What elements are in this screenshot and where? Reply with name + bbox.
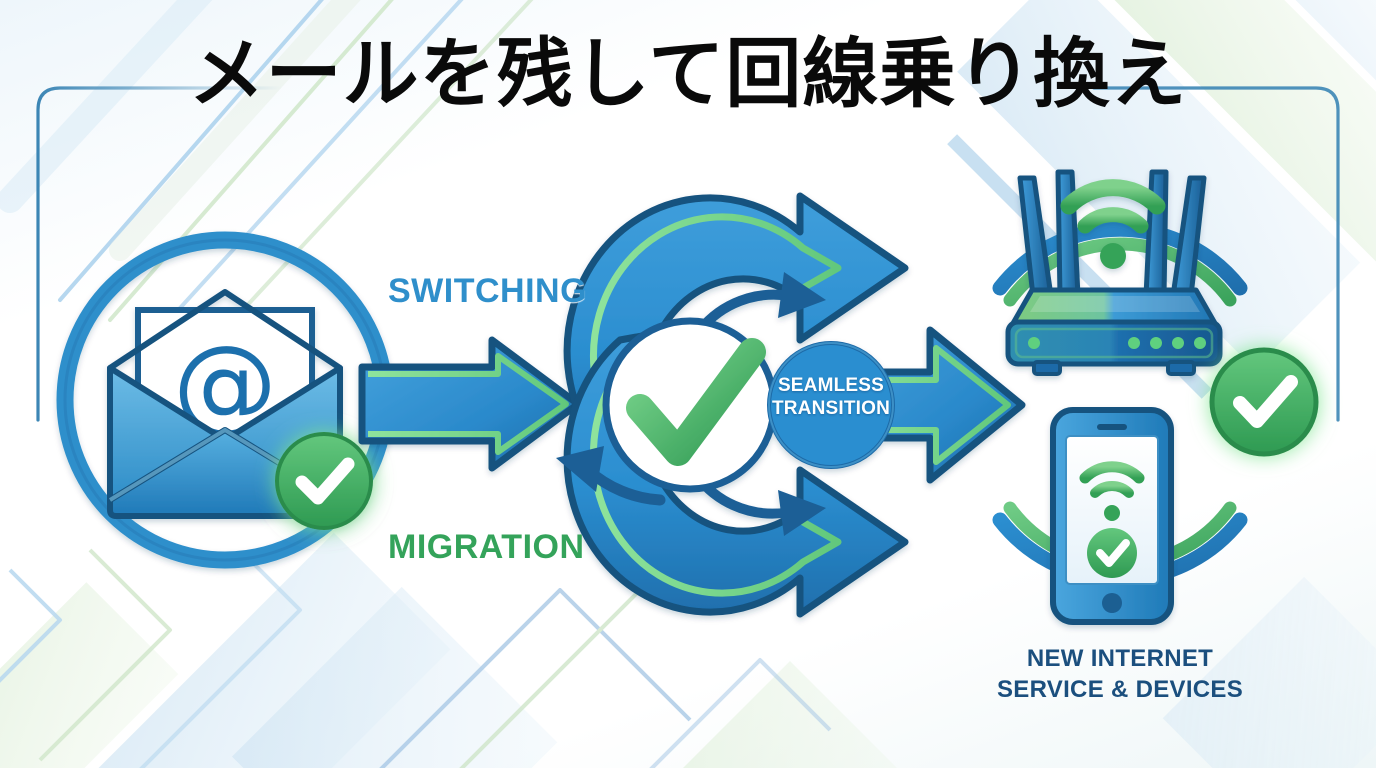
label-right-line2: SERVICE & DEVICES — [950, 675, 1290, 706]
label-right-line1: NEW INTERNET — [950, 644, 1290, 675]
green-check-badge-icon — [1212, 350, 1316, 454]
label-switching: SWITCHING — [388, 272, 587, 311]
page-title: メールを残して回線乗り換え — [0, 34, 1376, 114]
green-check-badge-icon — [277, 434, 371, 528]
wifi-router-icon — [1008, 172, 1220, 374]
label-migration: MIGRATION — [388, 528, 585, 567]
infographic-canvas: @ — [0, 0, 1376, 768]
label-new-internet-service: NEW INTERNET SERVICE & DEVICES — [950, 644, 1290, 705]
verified-circle — [606, 321, 774, 489]
email-node: @ — [65, 80, 385, 560]
devices-node — [1000, 172, 1316, 622]
flow-arrow-source-to-hub — [362, 340, 578, 468]
transition-hub — [556, 196, 1022, 614]
smartphone-icon — [1053, 410, 1171, 622]
seamless-transition-circle — [769, 343, 893, 467]
